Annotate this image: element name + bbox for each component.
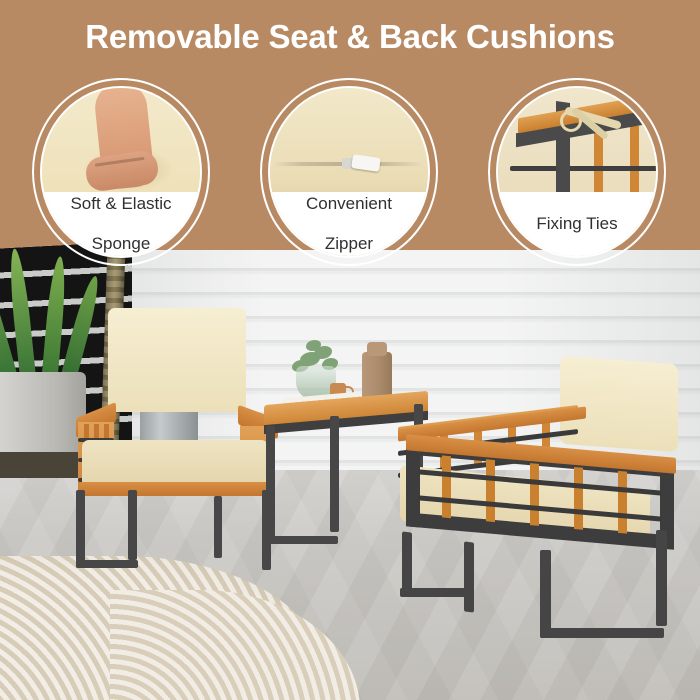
feature-circle-fixing-ties[interactable]: Fixing Ties xyxy=(488,78,666,266)
feature-label-band: ConvenientZipper xyxy=(270,192,428,256)
right-chair-slat xyxy=(486,459,495,522)
feature-label: Soft & ElasticSponge xyxy=(58,194,183,254)
side-table-leg xyxy=(330,416,339,532)
feature-image-zipper: ConvenientZipper xyxy=(268,86,430,258)
product-feature-image: Removable Seat & Back Cushions Soft & El… xyxy=(0,0,700,700)
feature-circle-convenient-zipper[interactable]: ConvenientZipper xyxy=(260,78,438,266)
right-chair-slat xyxy=(618,471,627,534)
right-armchair xyxy=(388,360,688,650)
feature-label: Fixing Ties xyxy=(524,214,629,234)
side-table-foot-rail xyxy=(266,536,338,544)
left-chair-front-rail xyxy=(80,482,270,496)
left-armchair xyxy=(62,300,284,568)
left-chair-back-cushion xyxy=(108,308,246,412)
left-chair-foot-rail xyxy=(76,560,138,568)
area-rug-lobe xyxy=(110,590,360,700)
feature-label: ConvenientZipper xyxy=(294,194,404,254)
right-chair-leg xyxy=(656,530,667,626)
page-title: Removable Seat & Back Cushions xyxy=(0,18,700,56)
right-chair-leg xyxy=(402,531,412,594)
side-table-leg xyxy=(266,426,275,544)
feature-image-fixing-ties: Fixing Ties xyxy=(496,86,658,258)
feature-label-band: Fixing Ties xyxy=(498,192,656,256)
right-chair-leg xyxy=(464,541,474,612)
right-chair-slat xyxy=(574,467,583,530)
feature-image-sponge: Soft & ElasticSponge xyxy=(40,86,202,258)
right-chair-leg xyxy=(540,550,551,638)
left-chair-leg xyxy=(128,490,137,560)
right-chair-slat xyxy=(530,463,539,526)
feature-circle-soft-elastic-sponge[interactable]: Soft & ElasticSponge xyxy=(32,78,210,266)
right-chair-foot-rail xyxy=(540,628,664,638)
right-chair-slat xyxy=(442,455,451,518)
left-chair-leg xyxy=(214,496,222,558)
left-chair-seat-cushion xyxy=(82,440,268,488)
feature-label-band: Soft & ElasticSponge xyxy=(42,192,200,256)
left-chair-leg xyxy=(76,490,85,568)
frame-metal-rail xyxy=(510,166,658,171)
right-chair-foot-rail xyxy=(400,588,470,597)
right-chair-panel-left-metal xyxy=(406,440,420,527)
